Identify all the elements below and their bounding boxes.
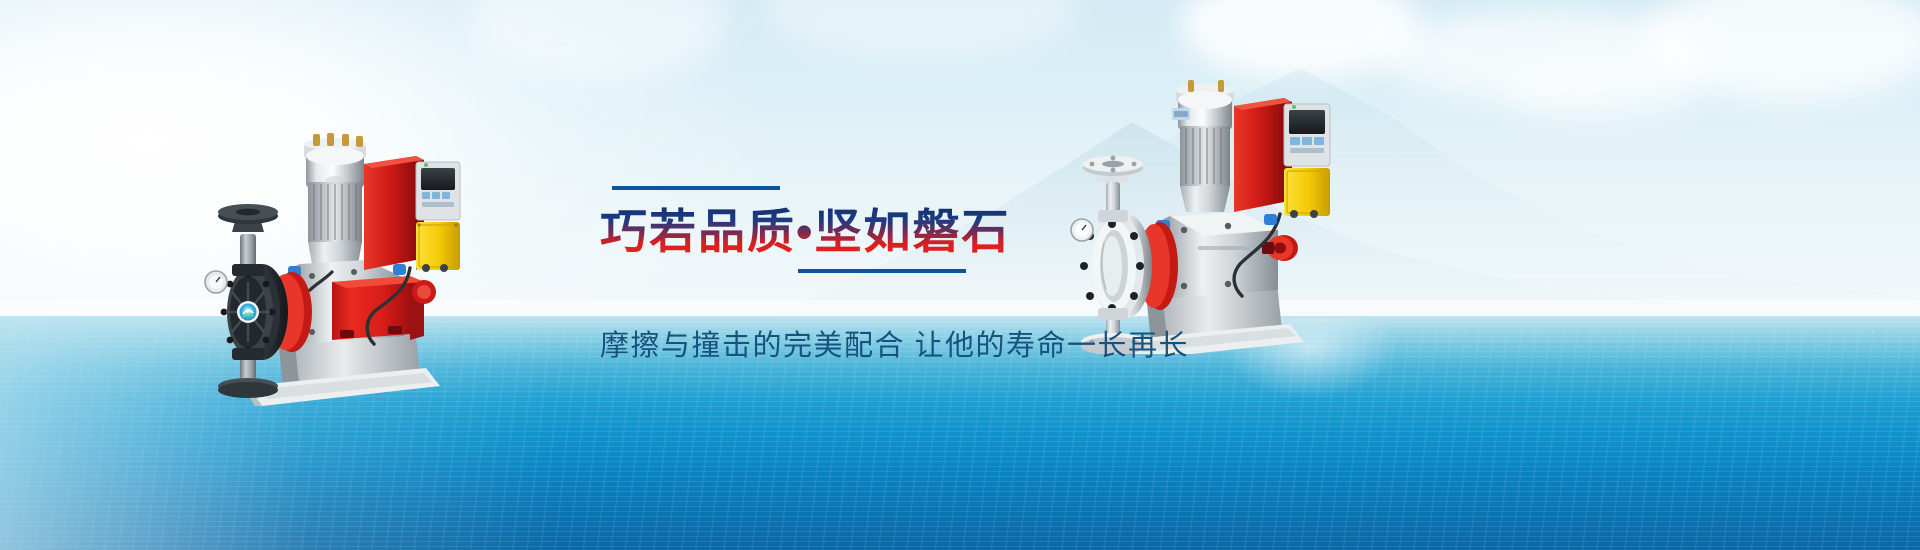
pump-adjust-block-left — [332, 276, 436, 340]
pump-motor-left — [304, 133, 366, 264]
hero-banner: 巧若品质•坚如磐石 摩擦与撞击的完美配合 让他的寿命一长再长 — [0, 0, 1920, 550]
pump-head-left — [221, 264, 312, 360]
blue-fitting-icon — [1264, 214, 1277, 225]
pump-controller-left — [364, 156, 460, 272]
pressure-gauge-left — [205, 271, 227, 293]
headline-block: 巧若品质•坚如磐石 — [600, 186, 1120, 273]
subtitle: 摩擦与撞击的完美配合 让他的寿命一长再长 — [600, 322, 1360, 364]
top-rule — [612, 186, 780, 190]
pump-controller-right — [1234, 98, 1330, 218]
page-title: 巧若品质•坚如磐石 — [600, 207, 1120, 256]
pump-motor-right — [1172, 80, 1234, 212]
product-image-left-metering-pump — [188, 86, 488, 406]
blue-fitting-icon — [393, 264, 406, 275]
bottom-rule — [798, 269, 966, 273]
pump-gearbox-right — [1162, 212, 1278, 300]
pump-inlet-pipe-left — [218, 204, 278, 276]
